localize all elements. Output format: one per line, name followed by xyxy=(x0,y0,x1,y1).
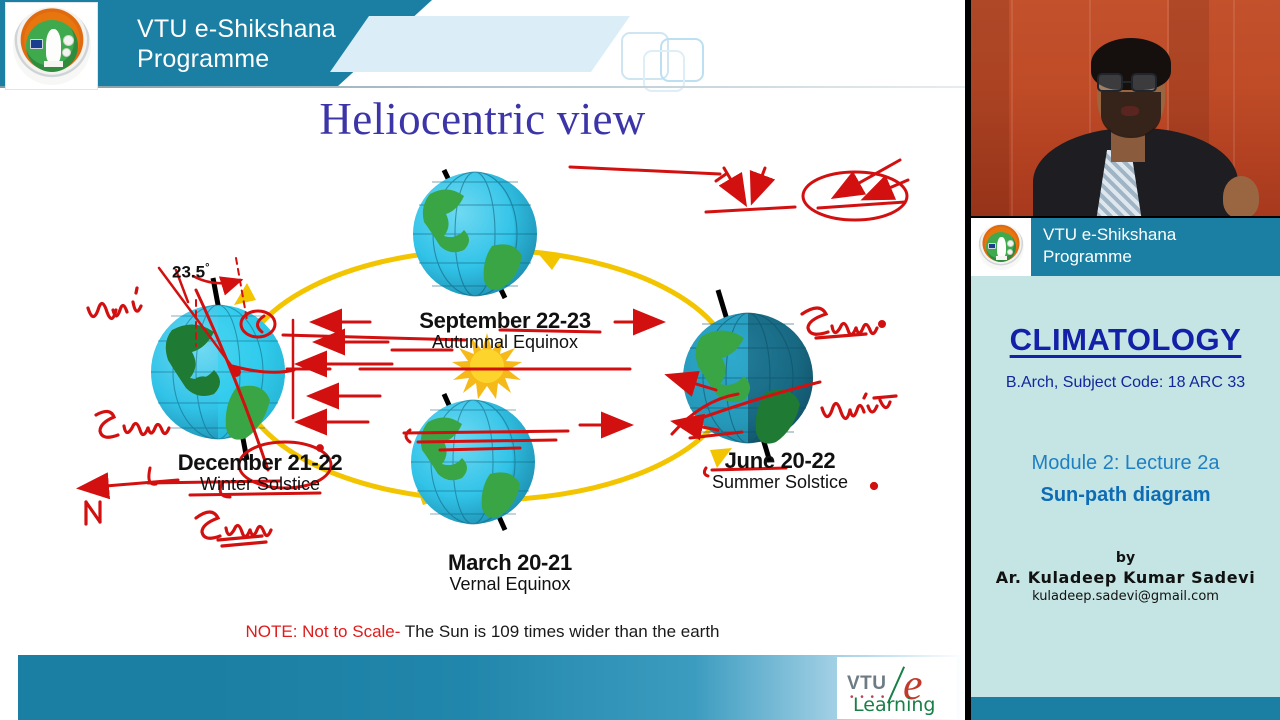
sidebar-header: VTU e-Shikshana Programme xyxy=(971,218,1280,276)
label-march-equinox: March 20-21 Vernal Equinox xyxy=(345,550,675,595)
sidebar-org-title-line1: VTU e-Shikshana xyxy=(1043,224,1273,246)
label-date: September 22-23 xyxy=(340,308,670,334)
sidebar-footer-bar xyxy=(971,697,1280,720)
sidebar-org-title: VTU e-Shikshana Programme xyxy=(1043,224,1273,268)
annotation-winter-right xyxy=(822,394,896,419)
header-org-title-line2: Programme xyxy=(137,44,427,74)
vtu-emblem-icon xyxy=(978,224,1024,270)
label-date: March 20-21 xyxy=(345,550,675,576)
header-divider xyxy=(0,86,965,88)
note-black-text: The Sun is 109 times wider than the eart… xyxy=(400,622,719,641)
heliocentric-diagram: September 22-23 Autumnal Equinox Decembe… xyxy=(0,150,965,620)
slide-title: Heliocentric view xyxy=(0,93,965,145)
screen: VTU e-Shikshana Programme Heliocentric v… xyxy=(0,0,1280,720)
slide-footer: VTU e • • • • Learning xyxy=(0,655,965,720)
label-event: Vernal Equinox xyxy=(345,574,675,595)
degree-symbol: ° xyxy=(205,262,209,274)
presenter-hand xyxy=(1223,176,1259,216)
by-label: by xyxy=(971,550,1280,566)
topic-label: Sun-path diagram xyxy=(971,484,1280,507)
annotation-summ-right xyxy=(802,308,884,338)
label-event: Autumnal Equinox xyxy=(340,332,670,353)
glasses-icon xyxy=(1131,73,1157,92)
presentation-slide: VTU e-Shikshana Programme Heliocentric v… xyxy=(0,0,965,720)
label-event: Summer Solstice xyxy=(615,472,945,493)
header-org-title: VTU e-Shikshana Programme xyxy=(137,14,427,74)
course-title: CLIMATOLOGY xyxy=(971,322,1280,358)
note-red-text: NOTE: Not to Scale- xyxy=(245,622,400,641)
course-subject: B.Arch, Subject Code: 18 ARC 33 xyxy=(971,374,1280,392)
glasses-icon xyxy=(1097,73,1123,92)
slide-note: NOTE: Not to Scale- The Sun is 109 times… xyxy=(0,622,965,642)
earth-september xyxy=(413,170,537,298)
annotation-n-left xyxy=(86,502,100,524)
annotation-sum xyxy=(96,411,169,437)
vtu-emblem-icon xyxy=(13,7,91,85)
author-email: kuladeep.sadevi@gmail.com xyxy=(971,589,1280,604)
axial-tilt-label: 23.5° xyxy=(172,262,210,283)
author-name: Ar. Kuladeep Kumar Sadevi xyxy=(971,568,1280,587)
module-label: Module 2: Lecture 2a xyxy=(971,452,1280,475)
footer-left-strip xyxy=(0,655,18,720)
presenter-webcam-feed[interactable] xyxy=(971,0,1280,216)
label-event: Winter Solstice xyxy=(95,474,425,495)
presenter-mouth xyxy=(1121,106,1139,116)
sidebar-org-title-line2: Programme xyxy=(1043,246,1273,268)
vtu-logo-badge xyxy=(5,2,98,90)
label-june-solstice: June 20-22 Summer Solstice xyxy=(615,448,945,493)
earth-march xyxy=(411,394,535,530)
tilt-value: 23.5 xyxy=(172,263,205,282)
slide-header: VTU e-Shikshana Programme xyxy=(0,0,965,90)
annotation-win xyxy=(88,288,141,319)
annotation-summer-bottom xyxy=(196,512,271,546)
label-december-solstice: December 21-22 Winter Solstice xyxy=(95,450,425,495)
vtu-elearning-logo: VTU e • • • • Learning xyxy=(837,657,957,719)
sidebar-vtu-logo-badge xyxy=(971,218,1031,276)
label-september-equinox: September 22-23 Autumnal Equinox xyxy=(340,308,670,353)
label-date: December 21-22 xyxy=(95,450,425,476)
elearning-learning-text: Learning xyxy=(853,694,936,716)
header-org-title-line1: VTU e-Shikshana xyxy=(137,14,427,44)
glasses-bridge-icon xyxy=(1123,81,1133,83)
label-date: June 20-22 xyxy=(615,448,945,474)
sidebar-panel: VTU e-Shikshana Programme CLIMATOLOGY B.… xyxy=(965,0,1280,720)
sidebar-course-info: CLIMATOLOGY B.Arch, Subject Code: 18 ARC… xyxy=(971,276,1280,697)
